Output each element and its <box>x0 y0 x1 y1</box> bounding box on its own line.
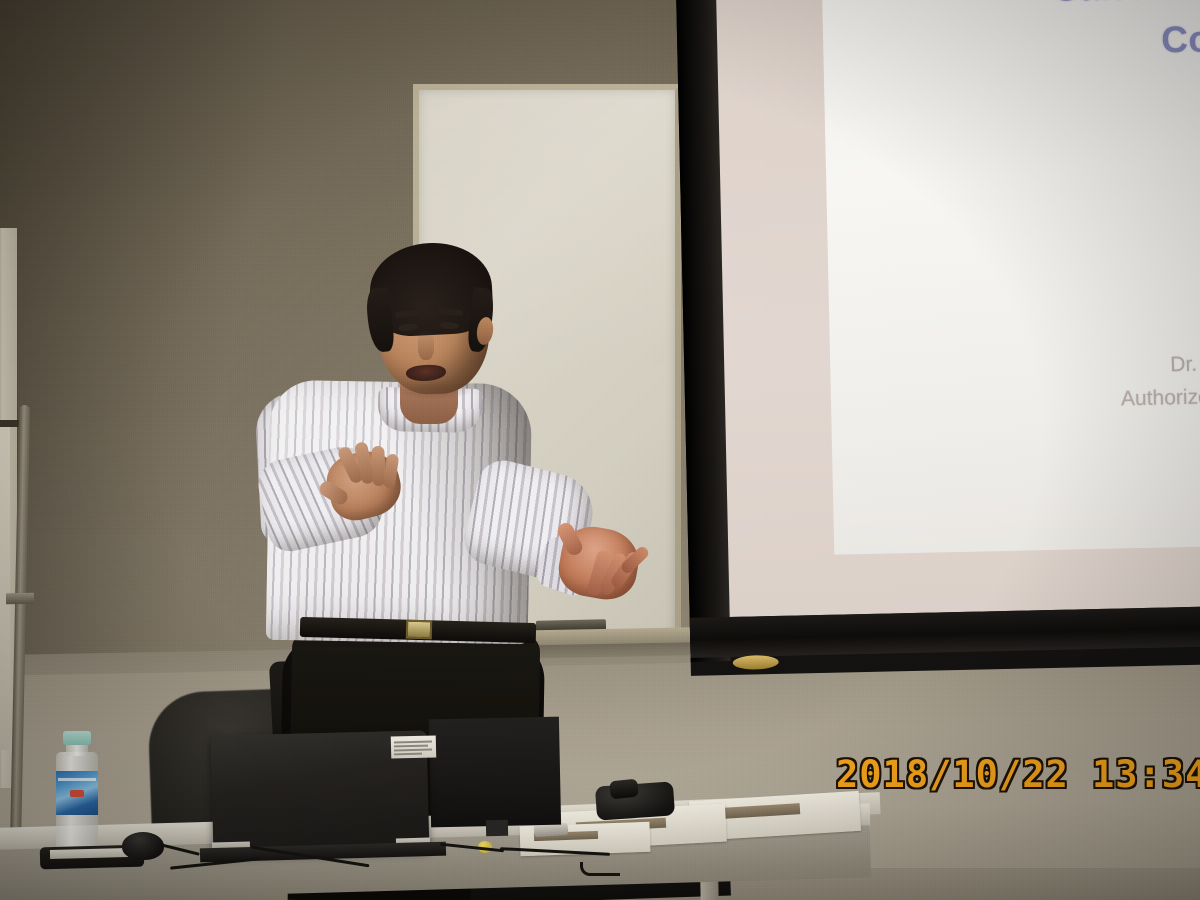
laptop-asset-sticker <box>391 735 437 758</box>
presenter-belt-buckle <box>406 620 432 640</box>
camera-timestamp: 2018/10/22 13:34 <box>836 753 1200 796</box>
external-monitor <box>429 717 561 828</box>
presenter-chin-shadow <box>392 378 474 400</box>
monitor-stand <box>486 820 508 836</box>
camera-lens <box>609 779 639 800</box>
water-bottle-label-mark <box>70 790 84 797</box>
water-bottle-cap <box>63 731 91 745</box>
water-bottle-label-stripe <box>58 778 96 781</box>
lecture-photograph: Salt Attack Concr Yo Dr. Eng., Pro Autho… <box>0 0 1200 900</box>
cable <box>580 862 620 876</box>
presenter-nose <box>418 330 434 360</box>
computer-mouse[interactable] <box>122 832 164 860</box>
